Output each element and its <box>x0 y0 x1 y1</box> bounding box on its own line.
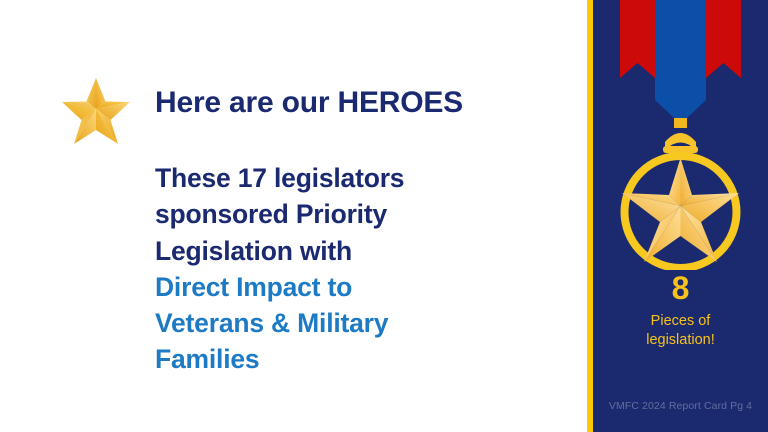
body-line-3: Legislation with <box>155 233 555 269</box>
legislation-caption: Pieces of legislation! <box>593 312 768 350</box>
caption-line-2: legislation! <box>593 331 768 350</box>
slide-root: Here are our HEROES These 17 legislators… <box>0 0 768 432</box>
right-stat-panel: 8 Pieces of legislation! VMFC 2024 Repor… <box>593 0 768 432</box>
body-line-6: Families <box>155 341 555 377</box>
legislation-count: 8 <box>593 272 768 304</box>
body-line-1: These 17 legislators <box>155 160 555 196</box>
body-line-5: Veterans & Military <box>155 305 555 341</box>
ribbon-icon <box>620 0 741 124</box>
page-title: Here are our HEROES <box>155 86 555 120</box>
star-icon <box>60 76 132 146</box>
body-line-4: Direct Impact to <box>155 269 555 305</box>
left-content-pane: Here are our HEROES These 17 legislators… <box>0 0 587 432</box>
source-footer: VMFC 2024 Report Card Pg 4 <box>593 400 768 412</box>
body-line-2: sponsored Priority <box>155 196 555 232</box>
body-text: These 17 legislators sponsored Priority … <box>155 160 555 378</box>
medal-icon <box>593 0 768 270</box>
caption-line-1: Pieces of <box>593 312 768 331</box>
medal-clasp <box>663 118 698 153</box>
